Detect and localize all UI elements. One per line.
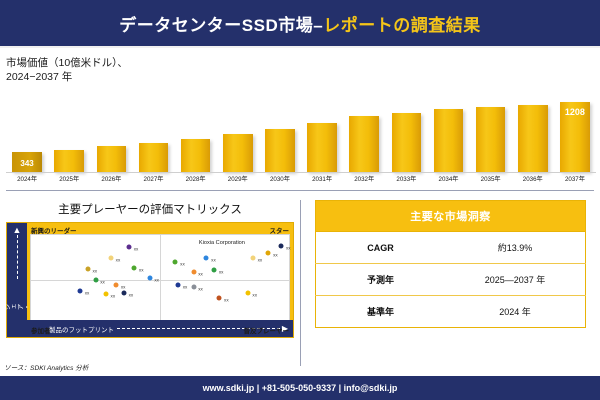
x-axis-tick-label: 2027年 xyxy=(132,174,174,183)
chart-bar xyxy=(349,116,379,172)
chart-bar xyxy=(181,139,211,172)
matrix-data-point xyxy=(191,269,196,274)
chart-bar xyxy=(392,113,422,172)
y-axis-dashed-line xyxy=(17,235,18,279)
chart-bar xyxy=(476,107,506,172)
matrix-data-point xyxy=(217,296,222,301)
matrix-data-point xyxy=(127,244,132,249)
chart-bar xyxy=(139,143,169,172)
insight-key: 予測年 xyxy=(316,264,446,296)
lower-section: 主要プレーヤーの評価マトリックス ▲ 市場シェア・成長 新興のリーダー スター … xyxy=(0,196,600,376)
bar-value-label: 1208 xyxy=(560,107,590,117)
bar-column xyxy=(97,146,127,172)
bar-column xyxy=(476,107,506,172)
bar-column xyxy=(139,143,169,172)
x-axis-tick-label: 2032年 xyxy=(343,174,385,183)
page-title-accent: レポートの調査結果 xyxy=(323,16,481,35)
source-note: ソース：SDKI Analytics 分析 xyxy=(4,362,88,372)
matrix-data-point-label: xx xyxy=(273,253,278,258)
matrix-data-point-label: xx xyxy=(198,287,203,292)
matrix-data-point xyxy=(85,267,90,272)
matrix-data-point xyxy=(93,278,98,283)
x-axis-tick-label: 2034年 xyxy=(427,174,469,183)
quadrant-label-star: スター xyxy=(270,225,290,235)
x-axis-tick-label: 2035年 xyxy=(470,174,512,183)
x-axis-tick-label: 2037年 xyxy=(554,174,596,183)
matrix-data-point-label: xx xyxy=(154,278,159,283)
bar-column xyxy=(349,116,379,172)
matrix-data-point xyxy=(121,290,126,295)
chart-bar: 343 xyxy=(12,152,42,172)
chart-bar xyxy=(265,129,295,172)
key-insights-table: CAGR約13.9%予測年2025—2037 年基準年2024 年 xyxy=(315,232,586,328)
matrix-data-point-label: xx xyxy=(286,245,291,250)
bar-chart-plot-area: 3431208 xyxy=(6,96,596,172)
chart-bar xyxy=(434,109,464,172)
chart-bar xyxy=(307,123,337,172)
x-axis-tick-label: 2024年 xyxy=(6,174,48,183)
x-axis-tick-label: 2030年 xyxy=(259,174,301,183)
x-axis-tick-label: 2036年 xyxy=(512,174,554,183)
insight-value: 約13.9% xyxy=(445,232,585,264)
chart-title: 市場価値（10億米ドル）、 2024−2037 年 xyxy=(6,56,594,84)
page-footer: www.sdki.jp | +81-505-050-9337 | info@sd… xyxy=(0,376,600,400)
chart-bar xyxy=(518,105,548,172)
chart-bar: 1208 xyxy=(560,102,590,172)
table-row: 基準年2024 年 xyxy=(316,296,586,328)
arrow-up-icon: ▲ xyxy=(13,226,22,235)
matrix-data-point xyxy=(78,288,83,293)
matrix-callout-kioxia: Kioxia Corporation xyxy=(199,240,245,246)
chart-x-axis-line xyxy=(6,172,596,173)
matrix-data-point-label: xx xyxy=(183,284,188,289)
quadrant-label-emerging-leader: 新興のリーダー xyxy=(31,225,77,235)
chart-bar xyxy=(54,150,84,173)
bar-column xyxy=(392,113,422,172)
matrix-data-point-label: xx xyxy=(219,270,224,275)
matrix-data-point-label: xx xyxy=(100,280,105,285)
matrix-data-point xyxy=(266,251,271,256)
quadrant-label-participant: 参加者 xyxy=(31,325,51,335)
matrix-data-point-label: xx xyxy=(129,292,134,297)
insight-key: CAGR xyxy=(316,232,446,264)
matrix-inner: 新興のリーダー スター 参加者 普及プレーヤー Kioxia Corporati… xyxy=(27,223,293,337)
matrix-y-axis: ▲ 市場シェア・成長 xyxy=(7,223,27,337)
matrix-data-point-label: xx xyxy=(198,271,203,276)
page-title: データセンターSSD市場–レポートの調査結果 xyxy=(119,11,480,36)
chart-bar xyxy=(97,146,127,172)
x-axis-tick-label: 2029年 xyxy=(217,174,259,183)
matrix-title: 主要プレーヤーの評価マトリックス xyxy=(6,198,294,222)
bar-chart-section: 市場価値（10億米ドル）、 2024−2037 年 3431208 2024年2… xyxy=(0,48,600,192)
page-title-main: データセンターSSD市場– xyxy=(119,16,323,35)
matrix-data-point xyxy=(176,282,181,287)
bar-column xyxy=(223,134,253,172)
matrix-data-point-label: xx xyxy=(224,298,229,303)
matrix-data-point xyxy=(103,292,108,297)
matrix-data-point xyxy=(147,276,152,281)
key-insights-panel: 主要な市場洞察 CAGR約13.9%予測年2025—2037 年基準年2024 … xyxy=(301,196,600,376)
footer-contact-text: www.sdki.jp | +81-505-050-9337 | info@sd… xyxy=(203,383,398,393)
bar-column: 1208 xyxy=(560,102,590,172)
table-row: 予測年2025—2037 年 xyxy=(316,264,586,296)
matrix-data-point-label: xx xyxy=(134,246,139,251)
matrix-data-point xyxy=(114,283,119,288)
bar-column xyxy=(434,109,464,172)
matrix-data-point-label: xx xyxy=(116,258,121,263)
x-axis-tick-label: 2033年 xyxy=(385,174,427,183)
bar-column xyxy=(307,123,337,172)
insight-key: 基準年 xyxy=(316,296,446,328)
player-matrix-panel: 主要プレーヤーの評価マトリックス ▲ 市場シェア・成長 新興のリーダー スター … xyxy=(0,196,300,376)
matrix-data-point xyxy=(132,266,137,271)
matrix-data-point-label: xx xyxy=(139,268,144,273)
matrix-data-point-label: xx xyxy=(252,292,257,297)
bar-value-label: 343 xyxy=(12,159,42,168)
matrix-data-point xyxy=(212,268,217,273)
bar-column: 343 xyxy=(12,152,42,172)
chart-bar xyxy=(223,134,253,172)
matrix-data-point-label: xx xyxy=(85,290,90,295)
bar-column xyxy=(181,139,211,172)
x-axis-tick-label: 2031年 xyxy=(301,174,343,183)
matrix-data-point-label: xx xyxy=(92,269,97,274)
matrix-data-point xyxy=(108,256,113,261)
matrix-data-point xyxy=(250,256,255,261)
matrix-data-point xyxy=(204,255,209,260)
bar-column xyxy=(54,150,84,173)
matrix-data-point xyxy=(245,290,250,295)
page-header: データセンターSSD市場–レポートの調査結果 xyxy=(0,0,600,48)
matrix-horizontal-divider xyxy=(31,280,289,281)
matrix-data-point xyxy=(279,243,284,248)
bar-column xyxy=(518,105,548,172)
insight-value: 2025—2037 年 xyxy=(445,264,585,296)
matrix-data-point-label: xx xyxy=(258,258,263,263)
matrix-x-axis-label: 製品のフットプリント xyxy=(49,324,114,334)
quadrant-label-pervasive-player: 普及プレーヤー xyxy=(244,325,290,335)
matrix-scatter-plot: Kioxia Corporation xxxxxxxxxxxxxxxxxxxxx… xyxy=(30,234,290,326)
matrix-data-point xyxy=(191,285,196,290)
matrix-data-point-label: xx xyxy=(211,257,216,262)
insight-value: 2024 年 xyxy=(445,296,585,328)
bar-column xyxy=(265,129,295,172)
x-axis-tick-label: 2026年 xyxy=(90,174,132,183)
x-axis-tick-label: 2028年 xyxy=(175,174,217,183)
matrix-data-point-label: xx xyxy=(111,294,116,299)
matrix-data-point-label: xx xyxy=(180,262,185,267)
x-axis-tick-label: 2025年 xyxy=(48,174,90,183)
matrix-frame: ▲ 市場シェア・成長 新興のリーダー スター 参加者 普及プレーヤー Kioxi… xyxy=(6,222,294,338)
matrix-data-point xyxy=(173,260,178,265)
chart-section-divider xyxy=(6,190,594,191)
key-insights-header: 主要な市場洞察 xyxy=(315,200,586,232)
table-row: CAGR約13.9% xyxy=(316,232,586,264)
